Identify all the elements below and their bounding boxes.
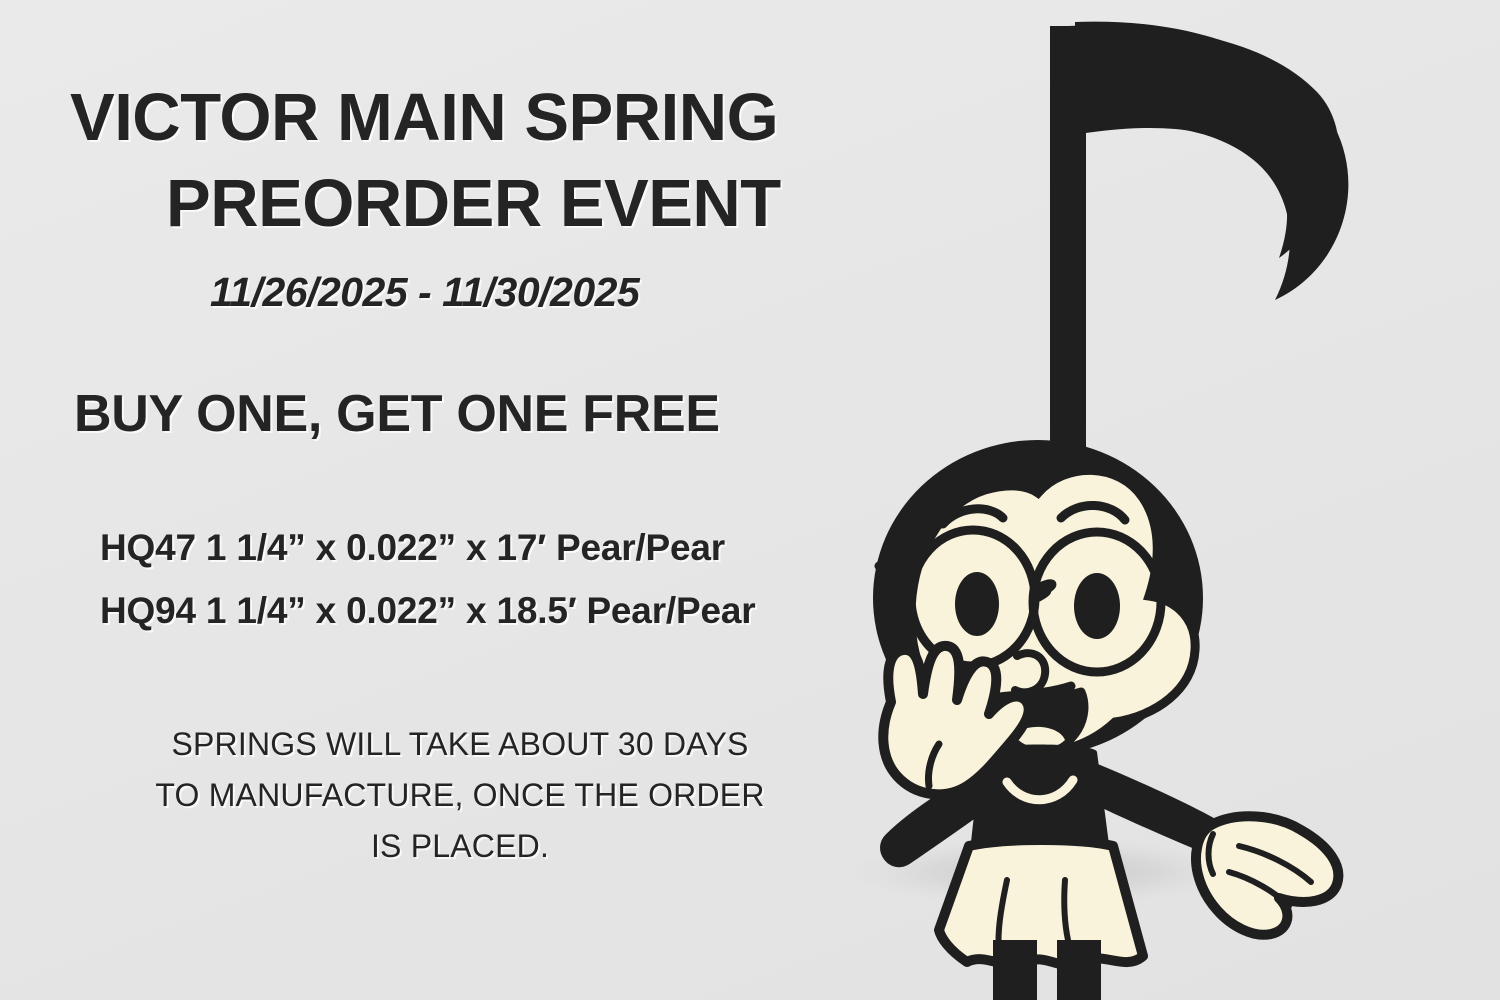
eye-left-pupil — [955, 572, 999, 636]
offer-headline: BUY ONE, GET ONE FREE — [74, 388, 720, 440]
skirt — [939, 840, 1143, 966]
headline-line-2: PREORDER EVENT — [166, 170, 781, 237]
headline-line-1: VICTOR MAIN SPRING — [70, 84, 778, 151]
product-spec-line: HQ94 1 1/4” x 0.022” x 18.5′ Pear/Pear — [100, 592, 755, 629]
promo-poster: VICTOR MAIN SPRING PREORDER EVENT 11/26/… — [0, 0, 1500, 1000]
nose — [1015, 653, 1045, 692]
leg-left — [993, 940, 1037, 1000]
product-spec-line: HQ47 1 1/4” x 0.022” x 17′ Pear/Pear — [100, 529, 725, 566]
text-content-block: VICTOR MAIN SPRING PREORDER EVENT 11/26/… — [0, 0, 880, 1000]
right-glove — [1196, 816, 1338, 934]
eye-right-pupil — [1074, 573, 1120, 639]
leg-right — [1057, 940, 1101, 1000]
lead-time-note-line: TO MANUFACTURE, ONCE THE ORDER — [70, 779, 850, 811]
lead-time-note-line: SPRINGS WILL TAKE ABOUT 30 DAYS — [70, 728, 850, 760]
event-date-range: 11/26/2025 - 11/30/2025 — [210, 272, 639, 313]
note-flag — [1075, 22, 1348, 300]
lead-time-note-line: IS PLACED. — [70, 830, 850, 862]
